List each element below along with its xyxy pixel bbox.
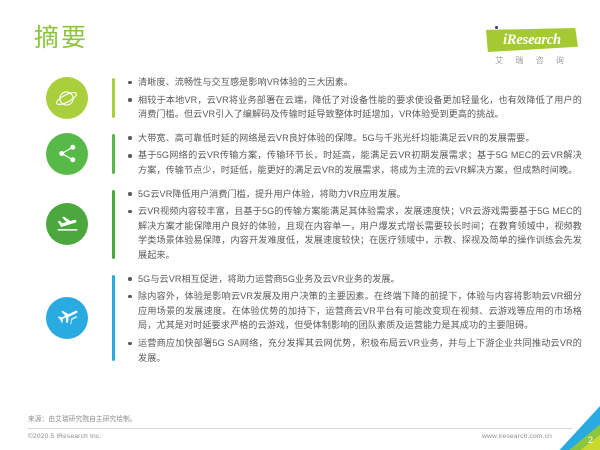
footer-divider — [28, 428, 572, 429]
bullet-item: 清晰度、流畅性与交互感是影响VR体验的三大因素。 — [127, 75, 582, 90]
share-icon — [56, 142, 79, 165]
slide-root: 摘要 iResearch 艾 瑞 咨 询 — [0, 0, 600, 450]
page-number: 2 — [588, 435, 593, 445]
bullet-list: 大带宽、高可靠低时延的网络是云VR良好体验的保障。5G与千兆光纤均能满足云VR的… — [127, 130, 582, 178]
bullet-item: 5G云VR降低用户消费门槛，提升用户体验，将助力VR应用发展。 — [127, 187, 582, 202]
logo-subtitle: 艾 瑞 咨 询 — [486, 55, 578, 66]
bullet-item: 除内容外，体验是影响云VR发展及用户决策的主要因素。在终端下降的前提下，体验与内… — [127, 289, 582, 333]
planet-icon — [55, 86, 79, 110]
summary-block: 清晰度、流畅性与交互感是影响VR体验的三大因素。 相较于本地VR，云VR将业务部… — [0, 74, 600, 122]
source-note: 来源：由艾瑞研究院自主研究绘制。 — [28, 413, 137, 423]
block-divider — [112, 275, 115, 362]
summary-block: 5G云VR降低用户消费门槛，提升用户体验，将助力VR应用发展。 云VR视频内容较… — [0, 186, 600, 263]
icon-column — [46, 297, 112, 339]
copyright-text: ©2020.5 iResearch Inc. — [28, 433, 101, 440]
bullet-item: 大带宽、高可靠低时延的网络是云VR良好体验的保障。5G与千兆光纤均能满足云VR的… — [127, 131, 582, 146]
block-icon-badge — [46, 77, 88, 119]
logo-dot-icon — [495, 26, 498, 29]
bullet-item: 相较于本地VR，云VR将业务部署在云端，降低了对设备性能的要求使设备更加轻量化，… — [127, 93, 582, 122]
summary-block: 5G与云VR相互促进，将助力运营商5G业务及云VR业务的发展。 除内容外，体验是… — [0, 271, 600, 366]
block-divider — [112, 134, 115, 174]
block-icon-badge — [46, 297, 88, 339]
block-icon-badge — [46, 203, 88, 245]
corner-decoration — [556, 406, 600, 450]
logo-mark: iResearch — [486, 28, 578, 52]
icon-column — [46, 203, 112, 245]
bullet-list: 清晰度、流畅性与交互感是影响VR体验的三大因素。 相较于本地VR，云VR将业务部… — [127, 74, 582, 122]
bullet-list: 5G与云VR相互促进，将助力运营商5G业务及云VR业务的发展。 除内容外，体验是… — [127, 271, 582, 366]
icon-column — [46, 133, 112, 175]
website-text: www.iresearch.com.cn — [482, 433, 552, 440]
block-divider — [112, 78, 115, 118]
bullet-list: 5G云VR降低用户消费门槛，提升用户体验，将助力VR应用发展。 云VR视频内容较… — [127, 186, 582, 263]
planes-icon — [55, 305, 80, 330]
plane-landing-icon — [55, 212, 80, 237]
bullet-item: 基于5G网络的云VR传输方案，传输环节长，时延高，能满足云VR初期发展需求；基于… — [127, 148, 582, 177]
logo-brand-text: iResearch — [486, 28, 578, 52]
page-title: 摘要 — [34, 23, 88, 53]
summary-blocks: 清晰度、流畅性与交互感是影响VR体验的三大因素。 相较于本地VR，云VR将业务部… — [0, 74, 600, 365]
icon-column — [46, 77, 112, 119]
bullet-item: 云VR视频内容较丰富，且基于5G的传输方案能满足其体验需求，发展速度快；VR云游… — [127, 204, 582, 262]
block-divider — [112, 190, 115, 259]
iresearch-logo: iResearch 艾 瑞 咨 询 — [486, 28, 578, 66]
block-icon-badge — [46, 133, 88, 175]
bullet-item: 运营商应加快部署5G SA网络，充分发挥其云网优势，积极布局云VR业务，并与上下… — [127, 336, 582, 365]
bullet-item: 5G与云VR相互促进，将助力运营商5G业务及云VR业务的发展。 — [127, 272, 582, 287]
summary-block: 大带宽、高可靠低时延的网络是云VR良好体验的保障。5G与千兆光纤均能满足云VR的… — [0, 130, 600, 178]
